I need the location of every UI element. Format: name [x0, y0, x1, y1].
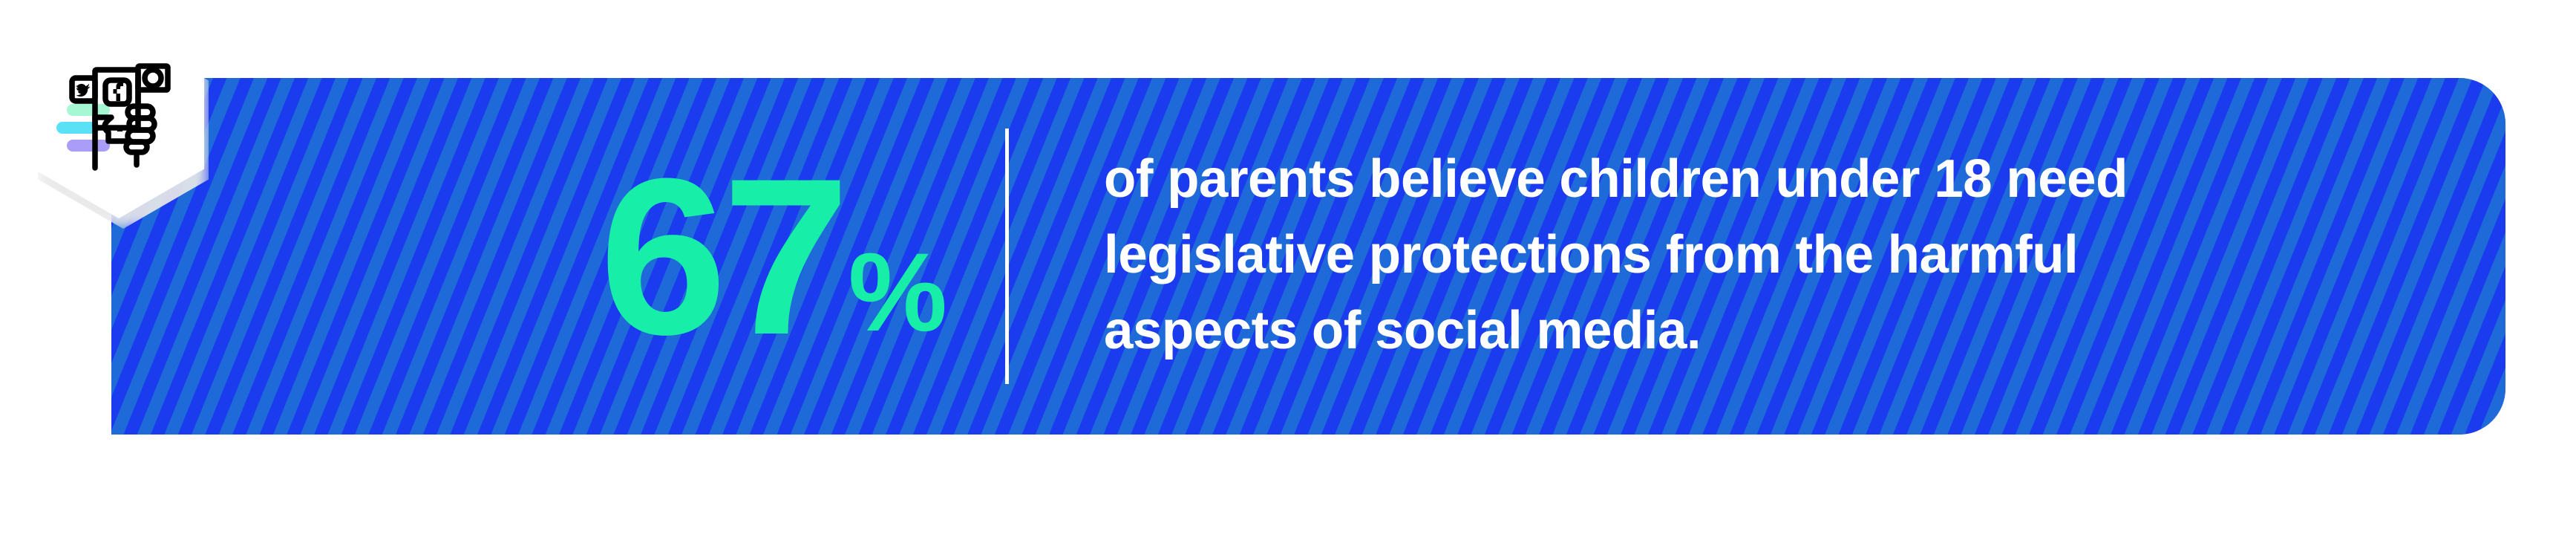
- headline-line-1: of parents believe children under 18 nee…: [1104, 141, 2464, 217]
- stat-percent-symbol: %: [849, 236, 947, 348]
- instagram-lens: [145, 70, 161, 86]
- bar-purple: [67, 140, 110, 152]
- stat-value: 67: [599, 169, 845, 343]
- twitter-bird-icon: [76, 84, 90, 97]
- facebook-f-icon: [114, 82, 124, 101]
- headline-line-2: legislative protections from the harmful: [1104, 217, 2464, 293]
- infographic-banner: 67 % of parents believe children under 1…: [0, 0, 2576, 540]
- palm-dot: [117, 126, 122, 131]
- vertical-divider: [1005, 129, 1009, 384]
- hand-holding-social-media-flag-icon: [56, 55, 181, 180]
- headline-line-3: aspects of social media.: [1104, 293, 2464, 368]
- headline-text: of parents believe children under 18 nee…: [1104, 141, 2485, 369]
- hexagon-badge: [33, 21, 256, 277]
- bar-mint: [67, 104, 110, 116]
- stat-figure: 67 %: [223, 80, 995, 432]
